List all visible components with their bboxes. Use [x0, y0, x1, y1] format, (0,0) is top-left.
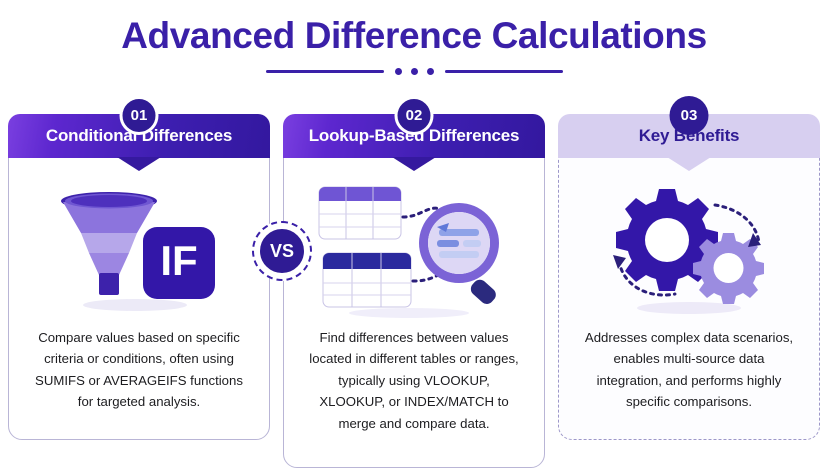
- vs-label: VS: [258, 227, 306, 275]
- divider-line-right: [445, 70, 563, 73]
- table-bottom-icon: [323, 253, 411, 307]
- card-body: Find differences between values located …: [283, 130, 545, 468]
- table-top-icon: [319, 187, 401, 239]
- card-description: Compare values based on specific criteri…: [9, 323, 269, 435]
- header-notch-icon: [667, 157, 711, 171]
- divider-dot: [427, 68, 434, 75]
- card-number-badge: 03: [670, 96, 709, 135]
- rotation-arrow-head-bottom: [613, 255, 626, 269]
- header-notch-icon: [117, 157, 161, 171]
- divider-dots: [395, 68, 434, 75]
- divider-dot: [395, 68, 402, 75]
- title-divider: [0, 68, 828, 75]
- card-number-badge: 02: [395, 96, 434, 135]
- divider-dot: [411, 68, 418, 75]
- gears-icon: [589, 175, 789, 320]
- page-title: Advanced Difference Calculations: [0, 0, 828, 57]
- if-label: IF: [160, 237, 197, 284]
- magnifier-icon: [419, 203, 499, 307]
- card-body: Addresses complex data scenarios, enable…: [558, 130, 820, 440]
- illustration-funnel-if: IF: [9, 171, 269, 323]
- divider-line-left: [266, 70, 384, 73]
- card-conditional-differences[interactable]: 01 Conditional Differences IF: [8, 96, 270, 468]
- cards-row: 01 Conditional Differences IF: [0, 96, 828, 468]
- tables-magnifier-icon: [309, 175, 519, 320]
- card-description: Addresses complex data scenarios, enable…: [559, 323, 819, 435]
- card-body: IF Compare values based on specific crit…: [8, 130, 270, 440]
- header-notch-icon: [392, 157, 436, 171]
- card-lookup-based-differences[interactable]: 02 Lookup-Based Differences: [283, 96, 545, 468]
- illustration-gears: [559, 171, 819, 323]
- card-key-benefits[interactable]: 03 Key Benefits: [558, 96, 820, 468]
- card-number-badge: 01: [120, 96, 159, 135]
- illustration-tables-magnifier: [284, 171, 544, 323]
- card-description: Find differences between values located …: [284, 323, 544, 456]
- funnel-if-icon: IF: [39, 177, 239, 317]
- vs-badge: VS: [252, 221, 312, 281]
